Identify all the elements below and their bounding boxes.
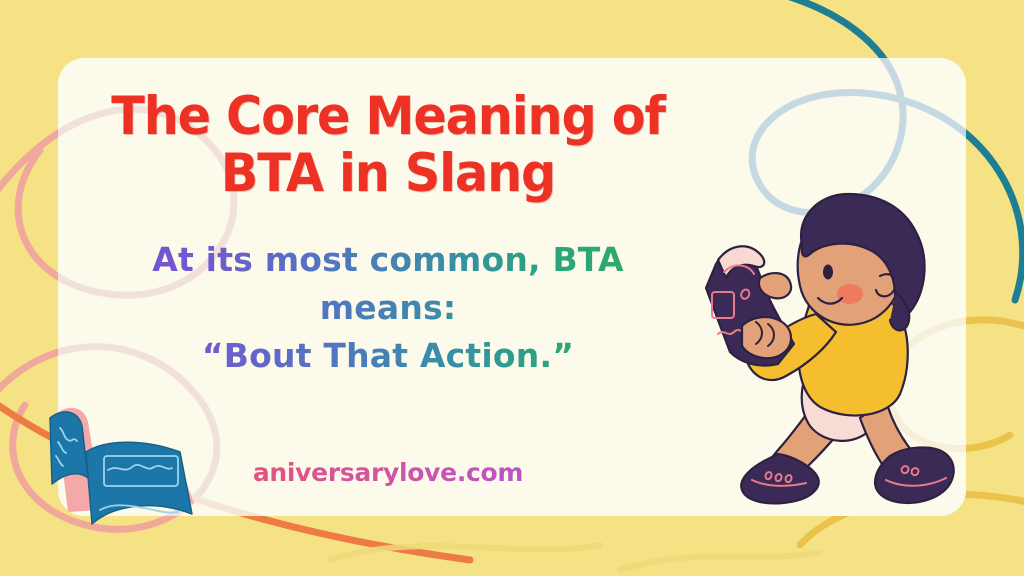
page-title: The Core Meaning of BTA in Slang — [90, 88, 685, 202]
body-line-1: At its most common, BTA — [152, 240, 623, 279]
title-line-1: The Core Meaning of — [111, 86, 665, 147]
text-content-block: The Core Meaning of BTA in Slang At its … — [58, 58, 718, 516]
body-text: At its most common, BTA means: “Bout Tha… — [108, 236, 668, 380]
squiggle-decoration — [330, 545, 820, 570]
boy-reading-illustration — [690, 188, 965, 508]
poster-canvas: The Core Meaning of BTA in Slang At its … — [0, 0, 1024, 576]
body-line-3: “Bout That Action.” — [108, 332, 668, 380]
body-line-2: means: — [108, 284, 668, 332]
website-watermark: aniversarylove.com — [58, 458, 718, 487]
title-line-2: BTA in Slang — [221, 143, 555, 204]
